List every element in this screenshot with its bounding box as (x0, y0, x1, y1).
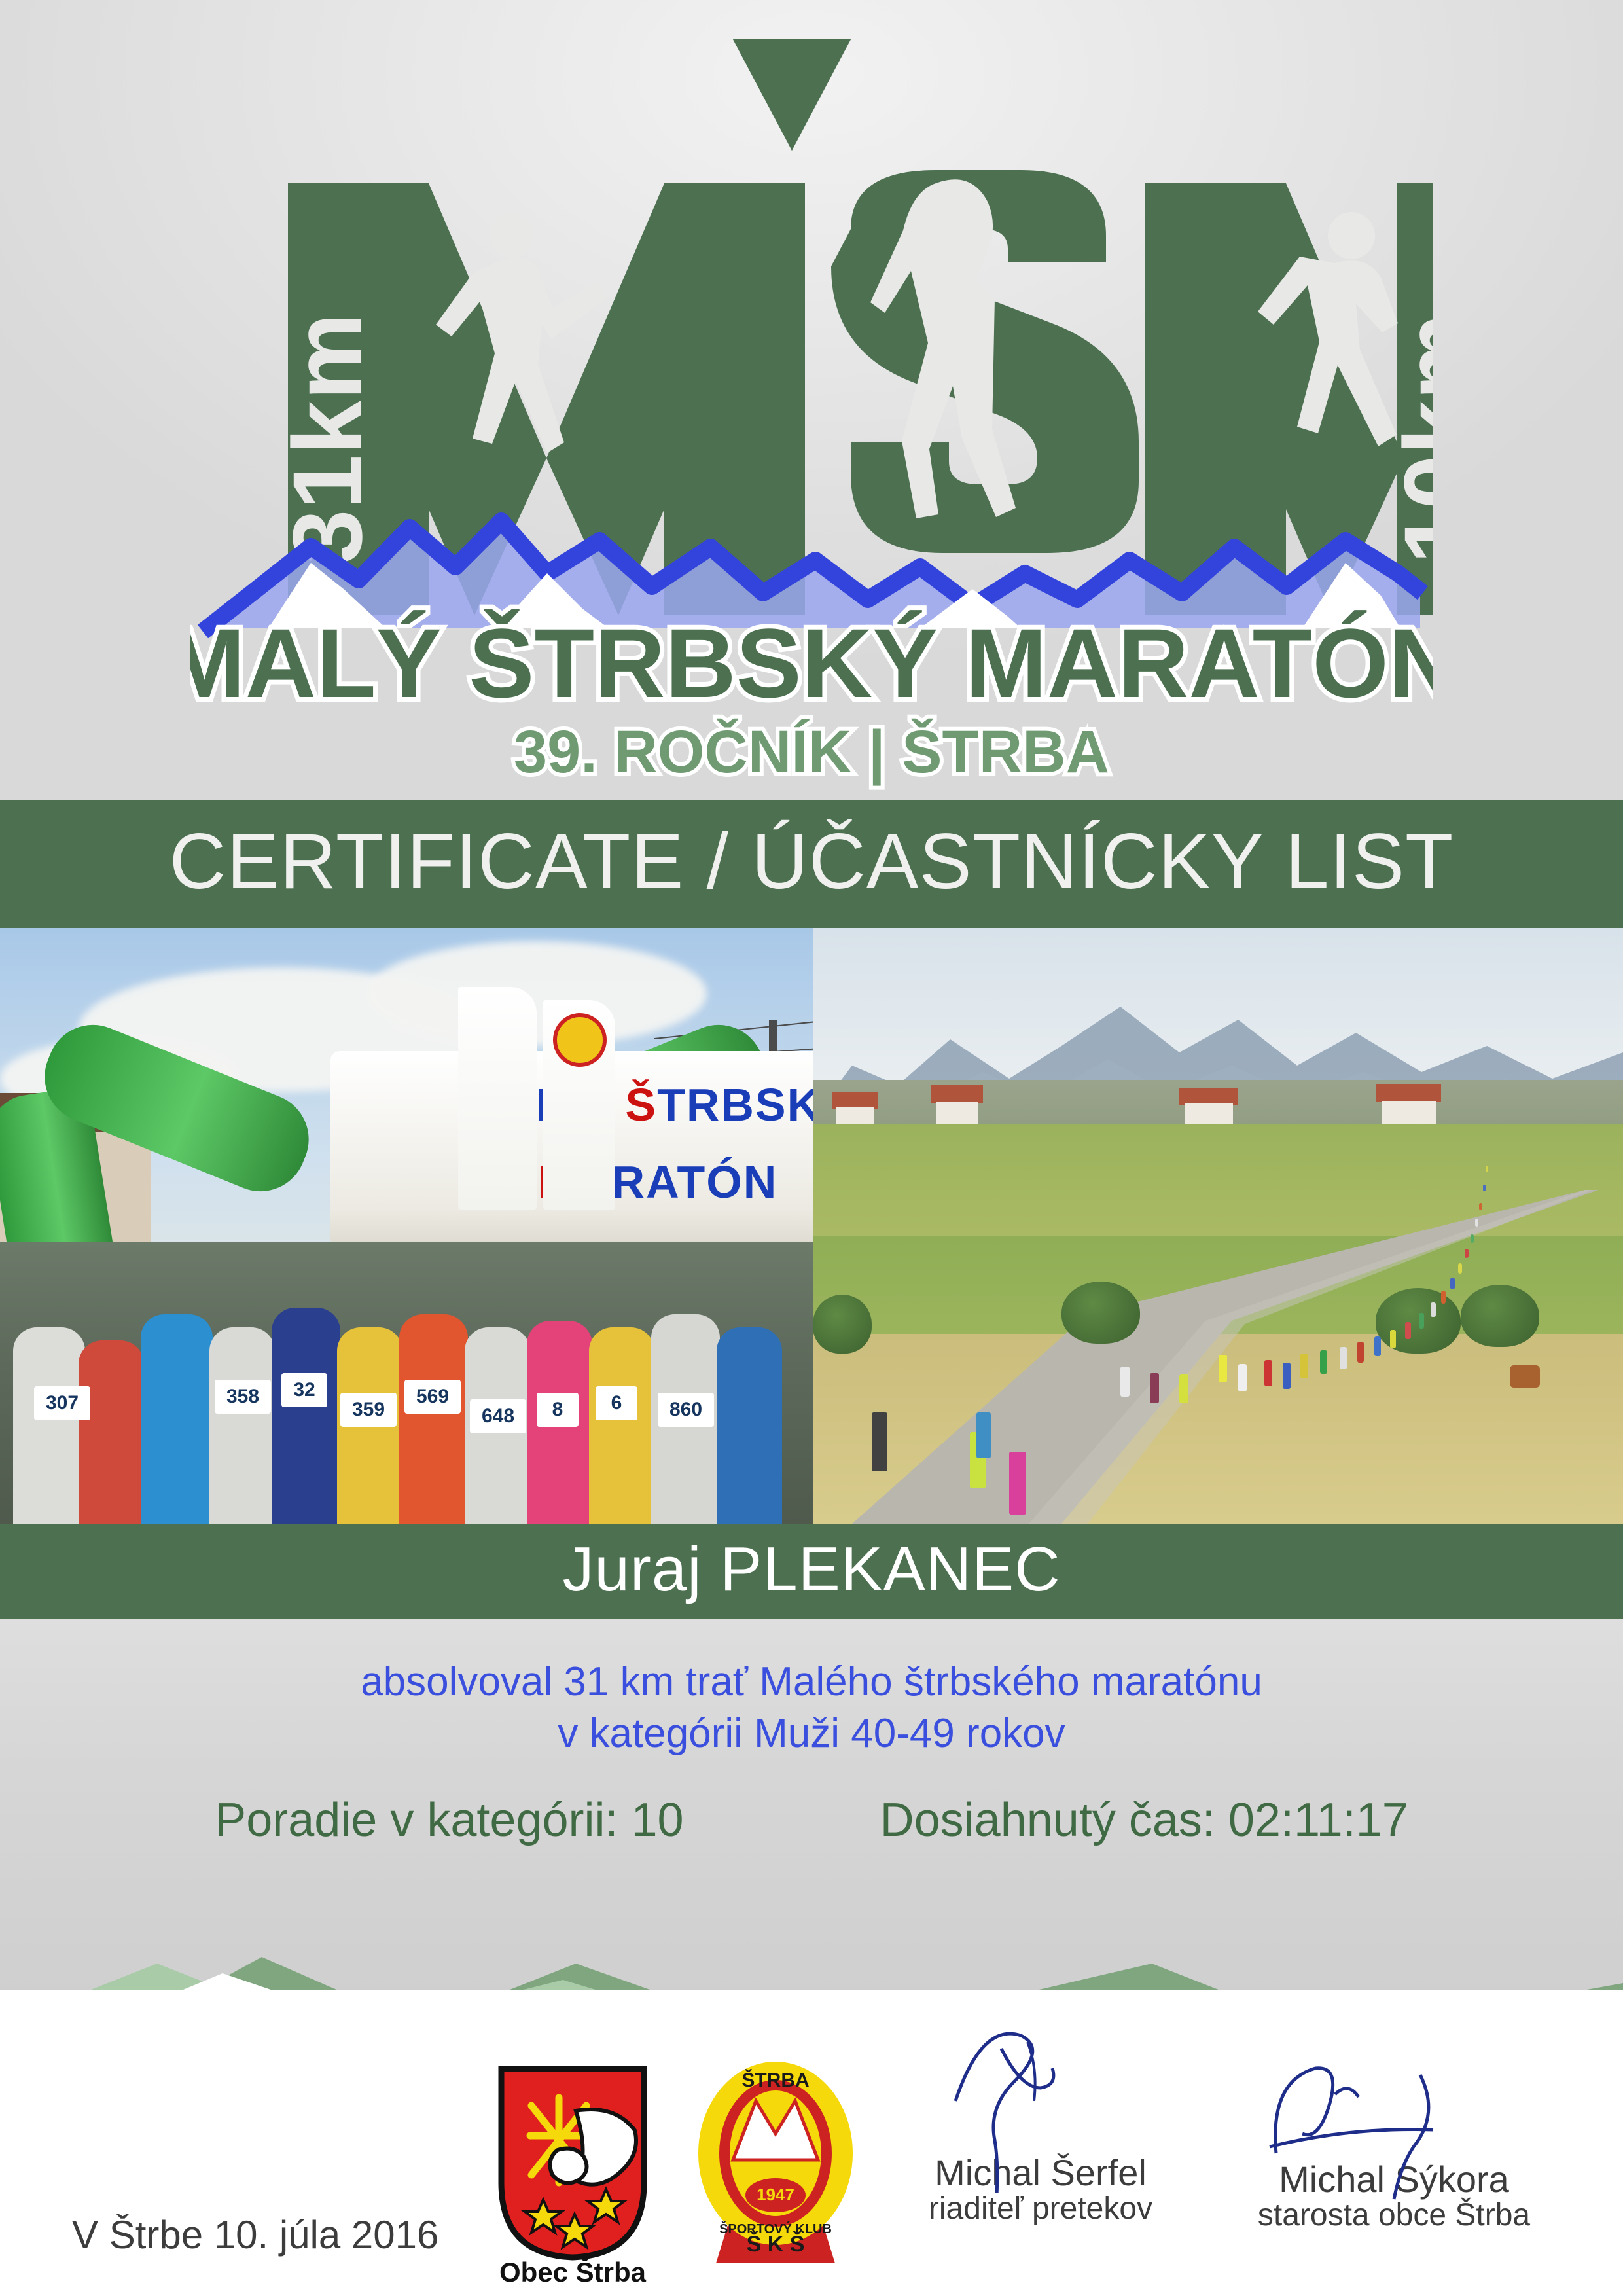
photo-road-runners (813, 928, 1623, 1524)
certificate-page: 31km 10km (0, 0, 1623, 2296)
place-and-date: V Štrbe 10. júla 2016 (72, 2212, 438, 2257)
bib-number: 307 (34, 1386, 90, 1420)
photo-race-start: MALÝ ŠTRBSKÝ MARATÓN ŠTART - CIEĽ (0, 928, 813, 1524)
participant-name: Juraj PLEKANEC (563, 1534, 1061, 1605)
finish-time-label: Dosiahnutý čas: (880, 1794, 1215, 1846)
bib-number: 32 (281, 1373, 327, 1407)
bib-number: 648 (470, 1399, 526, 1433)
bib-number: 358 (215, 1380, 271, 1414)
event-name-text: MALÝ ŠTRBSKÝ MARATÓN (190, 608, 1433, 718)
road (813, 1190, 1623, 1524)
result-stats: Poradie v kategórii: 10 Dosiahnutý čas: … (0, 1793, 1623, 1847)
sports-club-logo-icon: 1947 ŠTRBA Š K Š ŠPORTOVÝ KLUB (694, 2055, 857, 2271)
signature-ink-director (929, 2022, 1139, 2193)
signature-block-mayor: Michal Sýkora starosta obce Štrba (1224, 2160, 1564, 2233)
bib-number: 569 (404, 1380, 461, 1414)
distance-right-label: 10km (1383, 313, 1433, 564)
municipality-crest-label: Obec Štrba (452, 2257, 694, 2288)
finish-time: Dosiahnutý čas: 02:11:17 (880, 1793, 1408, 1847)
result-description-line-2: v kategórii Muži 40-49 rokov (0, 1708, 1623, 1759)
signature-role-director: riaditeľ pretekov (870, 2192, 1211, 2227)
signature-ink-mayor (1257, 2036, 1518, 2206)
certificate-title: CERTIFICATE / ÚČASTNÍCKY LIST (169, 816, 1454, 906)
distance-left-label: 31km (272, 313, 382, 564)
club-arc-text: ŠPORTOVÝ KLUB (719, 2221, 832, 2236)
municipality-crest-icon (497, 2065, 648, 2261)
participant-name-band: Juraj PLEKANEC (0, 1524, 1623, 1619)
bib-number: 860 (658, 1393, 714, 1427)
photo-strip: MALÝ ŠTRBSKÝ MARATÓN ŠTART - CIEĽ (0, 928, 1623, 1524)
result-description: absolvoval 31 km trať Malého štrbského m… (0, 1656, 1623, 1760)
club-year: 1947 (757, 2185, 794, 2204)
category-rank-label: Poradie v kategórii: (215, 1794, 618, 1846)
signature-block-director: Michal Šerfel riaditeľ pretekov (870, 2153, 1211, 2227)
logo-graphic: 31km 10km (190, 20, 1433, 792)
edition-line-text: 39. ROČNÍK | ŠTRBA (514, 718, 1109, 786)
bib-number: 6 (596, 1386, 637, 1420)
club-top-text: ŠTRBA (741, 2069, 809, 2091)
event-logo: 31km 10km (0, 20, 1623, 792)
category-rank-value: 10 (632, 1794, 684, 1846)
bib-number: 8 (537, 1393, 579, 1427)
certificate-title-band: CERTIFICATE / ÚČASTNÍCKY LIST (0, 800, 1623, 928)
bib-number: 359 (340, 1393, 397, 1427)
finish-time-value: 02:11:17 (1228, 1794, 1408, 1846)
category-rank: Poradie v kategórii: 10 (215, 1793, 683, 1847)
result-description-line-1: absolvoval 31 km trať Malého štrbského m… (0, 1656, 1623, 1708)
